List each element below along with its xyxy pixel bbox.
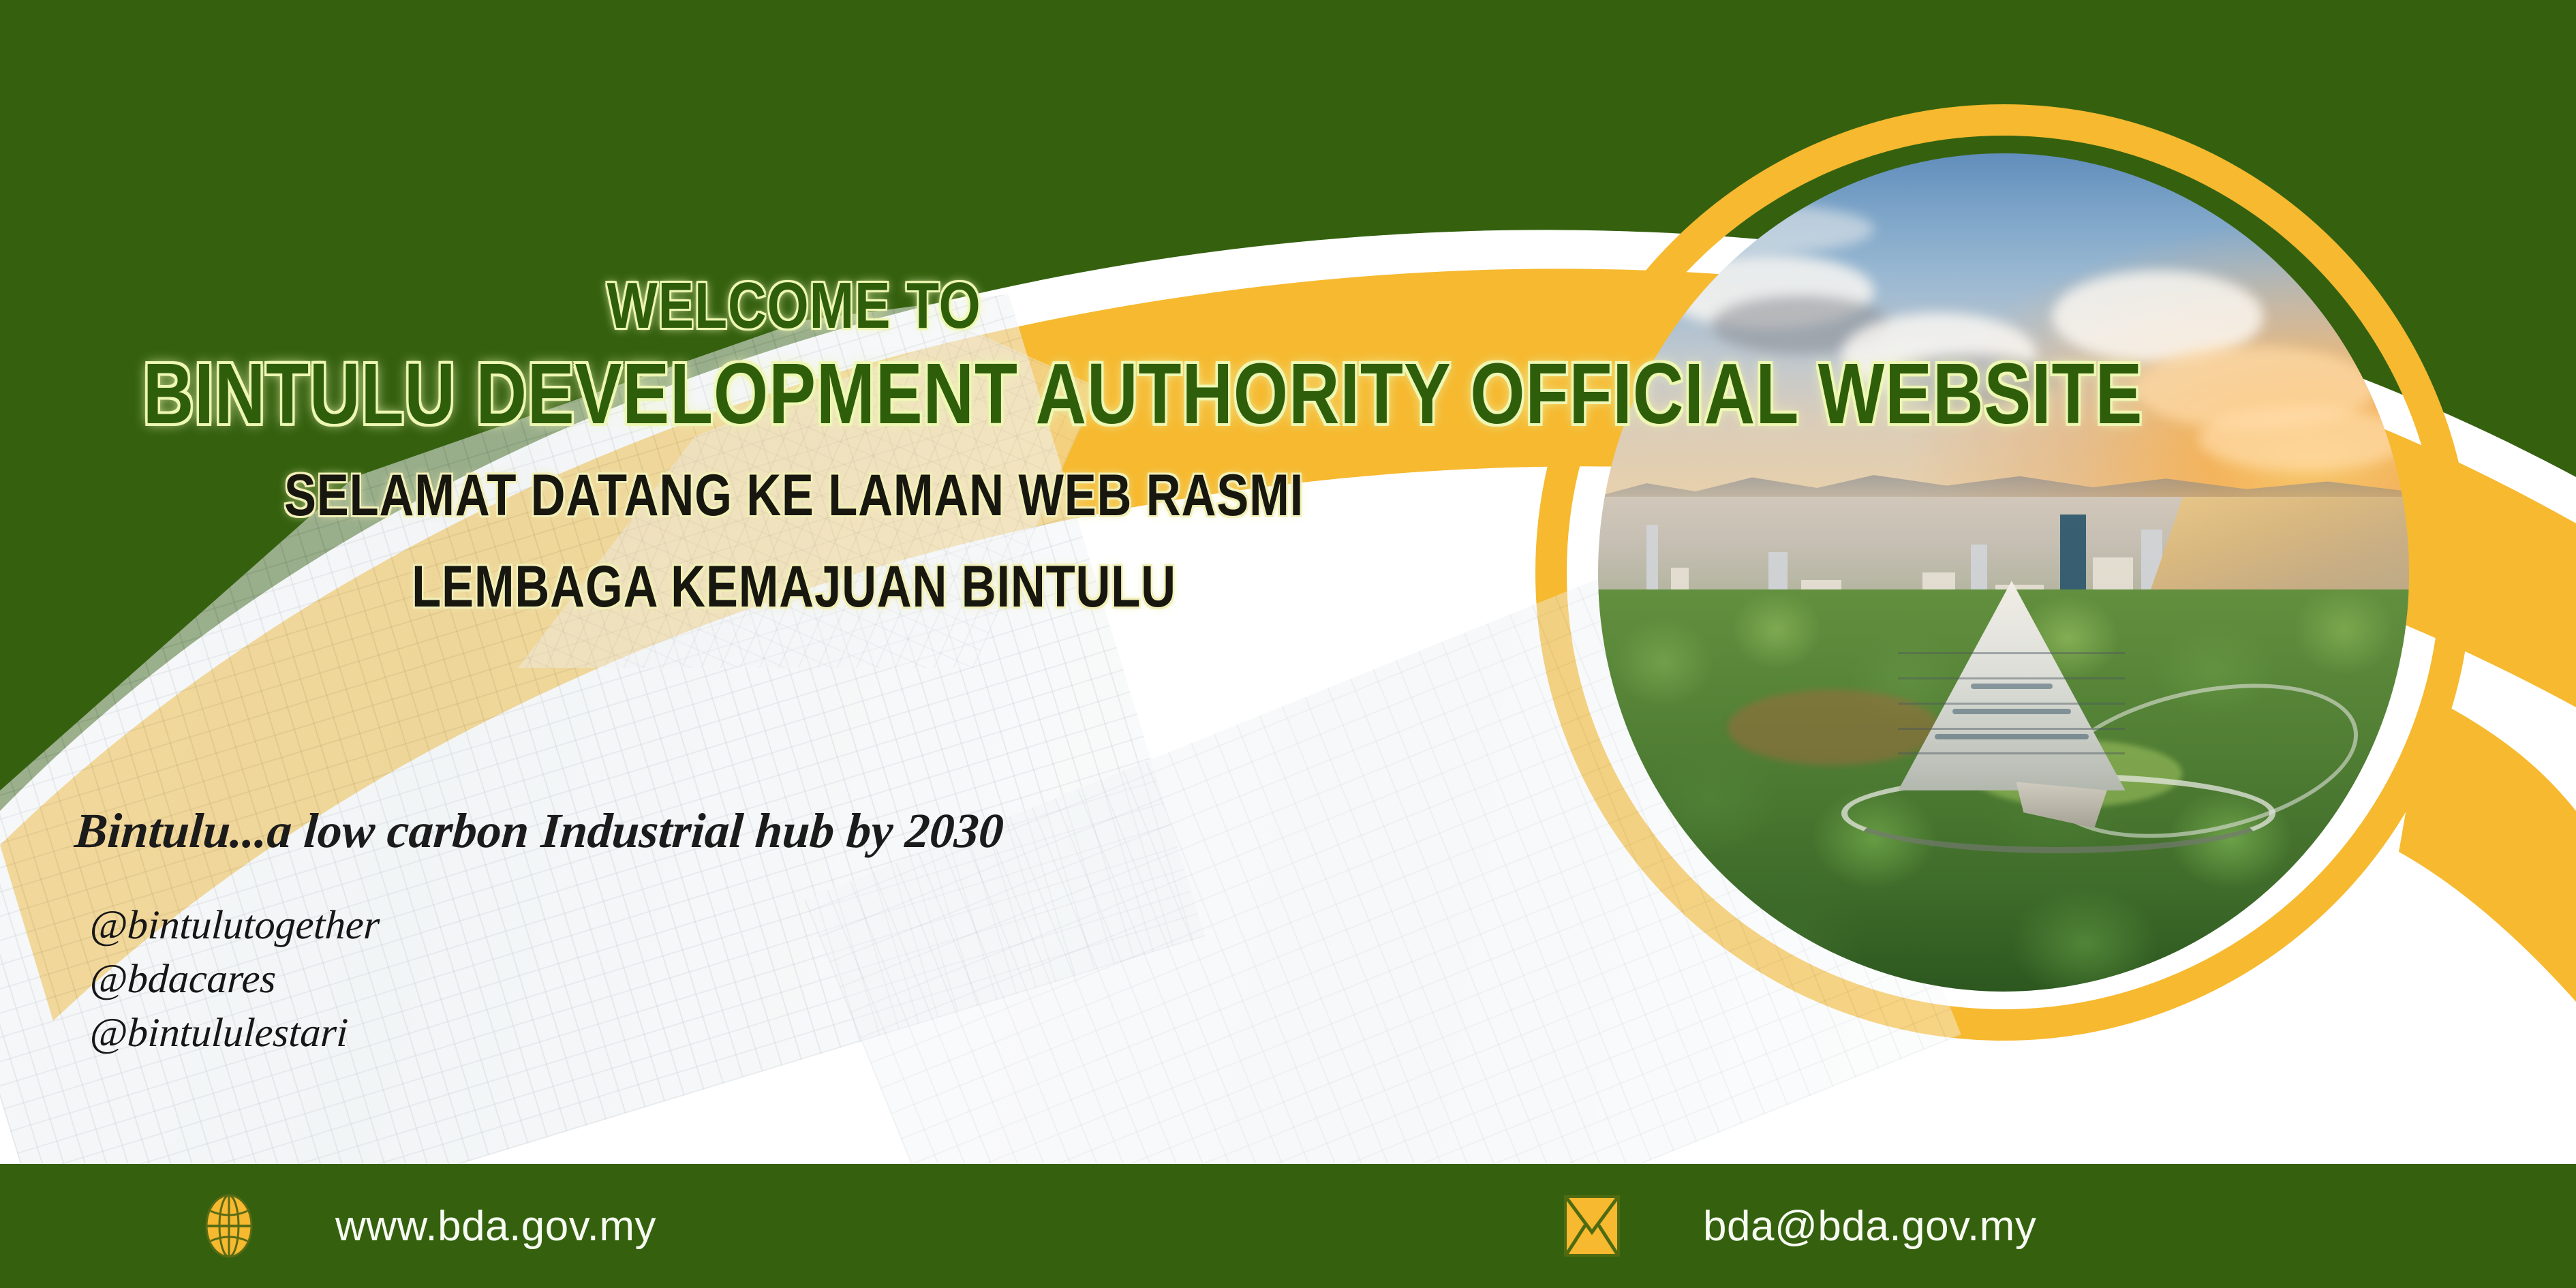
monument-ring	[1898, 703, 2125, 705]
tagline: Bintulu...a low carbon Industrial hub by…	[73, 803, 1005, 859]
monument-ring	[1898, 728, 2125, 730]
website-contact[interactable]: www.bda.gov.my	[204, 1193, 656, 1259]
welcome-line: WELCOME TO	[143, 273, 1445, 339]
council-negri-monument	[1898, 581, 2125, 791]
footer-bar: www.bda.gov.my bda@bda.gov.my	[0, 1164, 2576, 1288]
social-handle-1[interactable]: @bintulutogether	[89, 898, 381, 952]
photo-content	[1598, 153, 2409, 992]
monument-glazing	[1935, 734, 2089, 739]
headline-block: WELCOME TO BINTULU DEVELOPMENT AUTHORITY…	[0, 273, 1588, 617]
social-handle-3[interactable]: @bintululestari	[89, 1006, 381, 1060]
website-url[interactable]: www.bda.gov.my	[335, 1202, 656, 1251]
globe-icon	[204, 1193, 254, 1259]
bda-welcome-banner: WELCOME TO BINTULU DEVELOPMENT AUTHORITY…	[0, 0, 2576, 1288]
social-handle-2[interactable]: @bdacares	[89, 952, 381, 1006]
monument-ring	[1898, 652, 2125, 654]
monument-glazing	[1952, 709, 2070, 714]
malay-subtitle-line-2: LEMBAGA KEMAJUAN BINTULU	[143, 557, 1445, 617]
email-contact[interactable]: bda@bda.gov.my	[1563, 1193, 2036, 1259]
page-title: BINTULU DEVELOPMENT AUTHORITY OFFICIAL W…	[143, 350, 1445, 438]
cloud	[1631, 204, 1874, 254]
envelope-icon	[1563, 1193, 1621, 1259]
cloud	[2198, 405, 2409, 472]
monument-ring	[1898, 677, 2125, 679]
social-handles-list: @bintulutogether @bdacares @bintululesta…	[90, 898, 380, 1060]
monument-ring	[1898, 752, 2125, 754]
malay-subtitle-line-1: SELAMAT DATANG KE LAMAN WEB RASMI	[143, 466, 1445, 526]
bintulu-aerial-photo	[1598, 153, 2409, 992]
monument-glazing	[1971, 684, 2053, 689]
email-address[interactable]: bda@bda.gov.my	[1703, 1202, 2036, 1251]
